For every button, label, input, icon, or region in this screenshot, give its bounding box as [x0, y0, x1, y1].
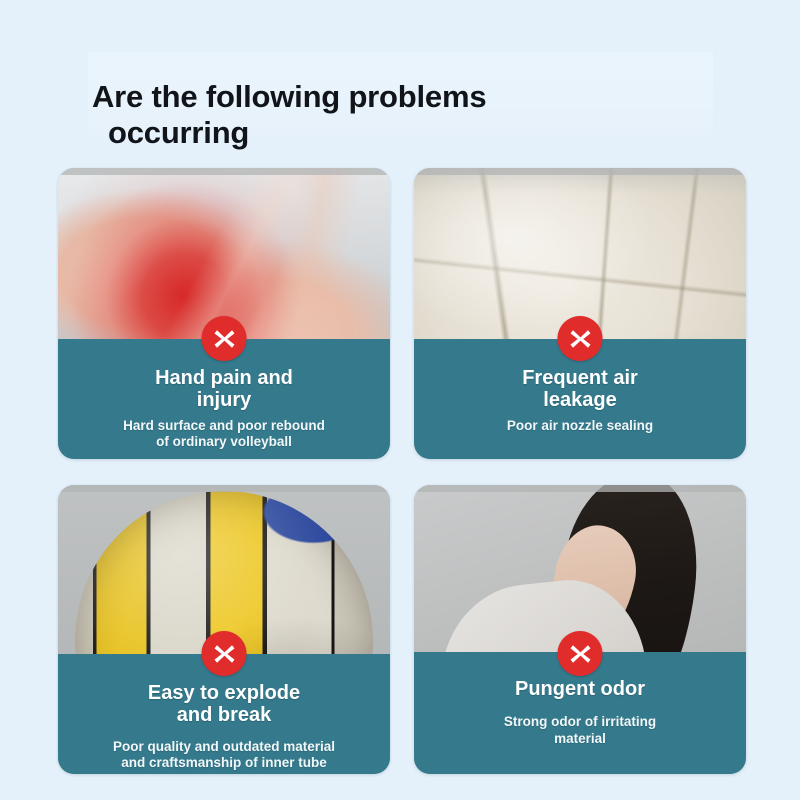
card-subtitle: Poor air nozzle sealing	[424, 418, 736, 434]
card-subtitle: Hard surface and poor rebound of ordinar…	[68, 418, 380, 450]
photo-top-shade	[58, 168, 390, 175]
problem-card-air-leakage[interactable]: Frequent air leakage Poor air nozzle sea…	[414, 168, 746, 459]
x-mark-icon	[202, 316, 247, 361]
problem-card-pungent-odor[interactable]: Pungent odor Strong odor of irritating m…	[414, 485, 746, 774]
x-mark-icon	[202, 631, 247, 676]
problem-card-grid: Hand pain and injury Hard surface and po…	[58, 168, 746, 774]
page-title-line-1: Are the following problems	[92, 79, 486, 114]
problem-card-hand-pain[interactable]: Hand pain and injury Hard surface and po…	[58, 168, 390, 459]
x-mark-icon	[558, 631, 603, 676]
card-subtitle: Poor quality and outdated material and c…	[68, 739, 380, 771]
card-title: Easy to explode and break	[68, 682, 380, 727]
card-title: Hand pain and injury	[68, 367, 380, 412]
card-title: Frequent air leakage	[424, 367, 736, 412]
problem-card-explode-break[interactable]: Easy to explode and break Poor quality a…	[58, 485, 390, 774]
page-title: Are the following problemsoccurring	[92, 79, 732, 152]
photo-top-shade	[414, 168, 746, 175]
card-subtitle: Strong odor of irritating material	[424, 714, 736, 746]
page-title-line-2: occurring	[92, 115, 732, 152]
photo-top-shade	[58, 485, 390, 492]
card-title: Pungent odor	[424, 678, 736, 700]
x-mark-icon	[558, 316, 603, 361]
photo-top-shade	[414, 485, 746, 492]
